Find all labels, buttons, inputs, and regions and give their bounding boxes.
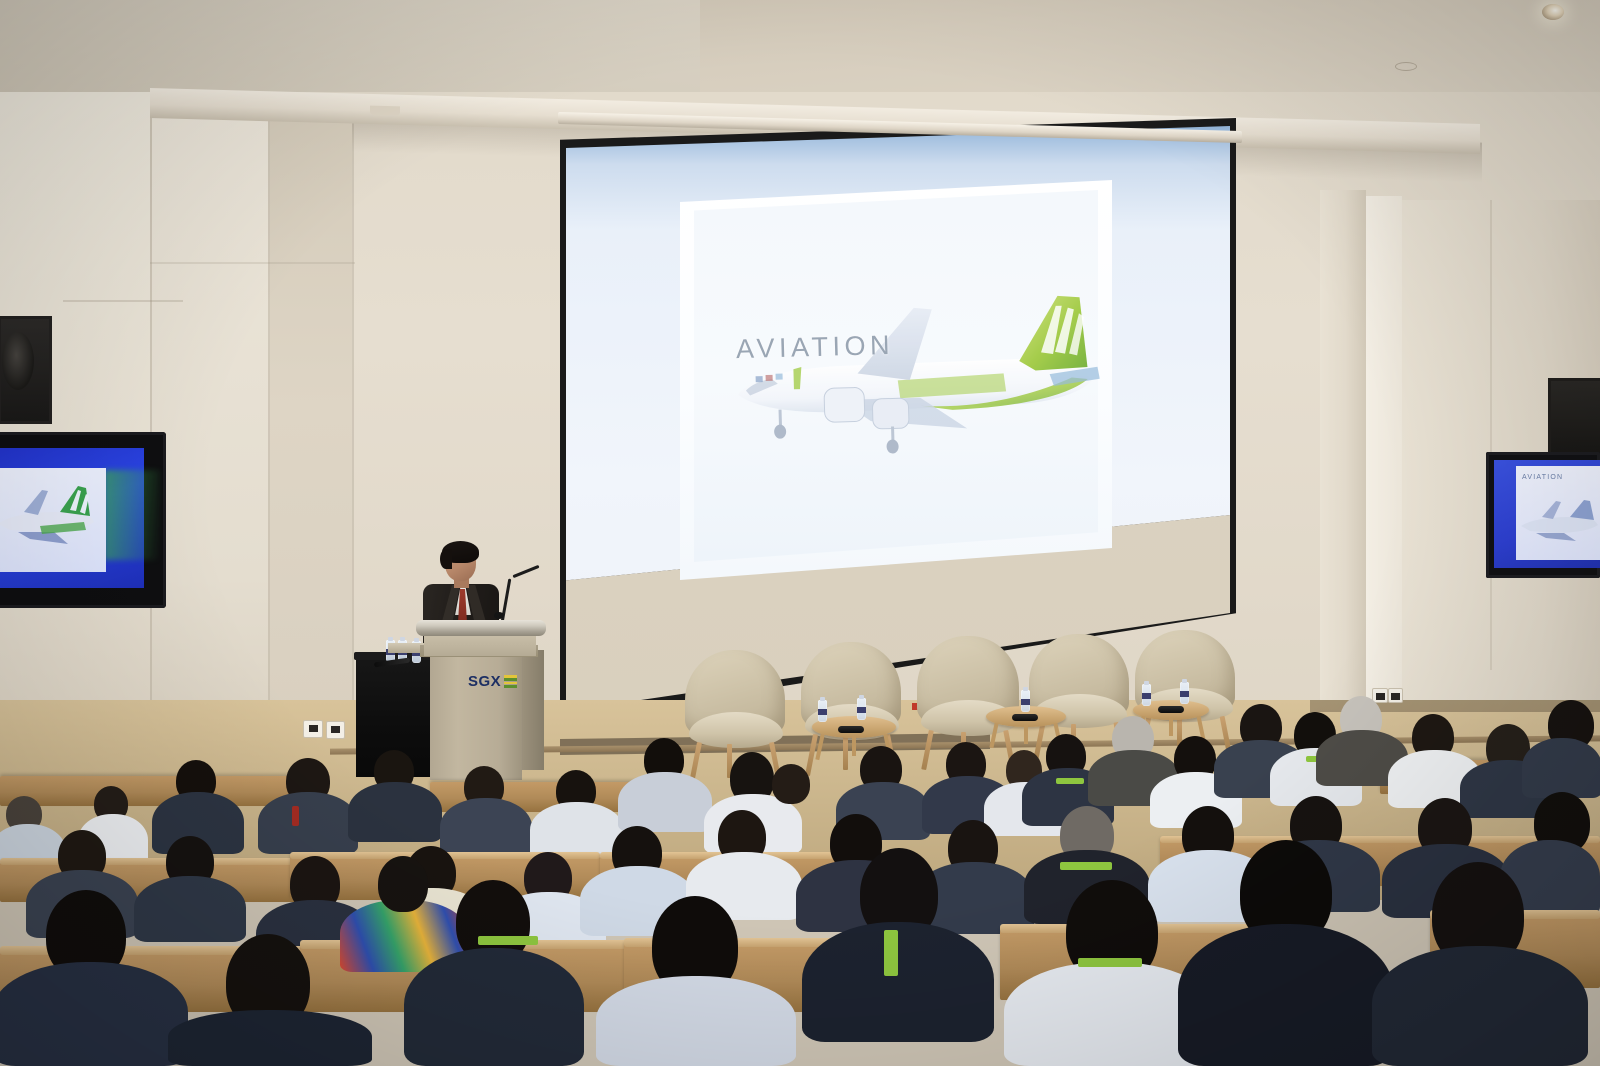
- water-bottle[interactable]: [1021, 690, 1030, 712]
- audience-member: [440, 798, 532, 858]
- wall-column-face-a: [1320, 190, 1366, 720]
- audience-member: [404, 948, 584, 1066]
- water-bottle[interactable]: [857, 698, 866, 720]
- wall-seam: [268, 92, 270, 782]
- water-bottle[interactable]: [1142, 684, 1151, 706]
- wall-seam: [1490, 200, 1492, 670]
- ceiling-fixture-ring-icon: [1395, 62, 1417, 71]
- handheld-microphone[interactable]: [838, 726, 864, 733]
- soffit-bracket: [370, 106, 400, 116]
- wall-seam: [150, 262, 355, 264]
- left-monitor-aircraft-icon: [0, 482, 98, 554]
- left-monitor-tail-glow: [104, 470, 160, 560]
- wall-column-face-b: [1366, 196, 1402, 720]
- lanyard: [884, 930, 898, 976]
- lanyard: [478, 936, 538, 945]
- aircraft-illustration: [717, 289, 1102, 490]
- podium-side: [522, 650, 544, 770]
- panel-chair[interactable]: [681, 650, 791, 775]
- sgx-logo-text: SGX: [468, 673, 501, 690]
- wall-recess: [270, 104, 352, 780]
- wall-seam: [352, 104, 354, 780]
- audience-member: [134, 876, 246, 942]
- audience-member: [618, 772, 712, 832]
- audience-member: [1372, 946, 1588, 1066]
- sgx-logo-mark-icon: [504, 675, 517, 688]
- wall-seam: [63, 300, 183, 302]
- lanyard: [292, 806, 299, 826]
- audience-member: [258, 792, 358, 854]
- speaker-cone-icon: [2, 332, 34, 390]
- audience-member: [596, 976, 796, 1066]
- wall-panel-left-b: [152, 98, 268, 782]
- wall-socket[interactable]: [303, 720, 323, 738]
- audience-member: [348, 782, 442, 842]
- lanyard: [1060, 862, 1112, 870]
- audience-member: [168, 1010, 372, 1066]
- audience-member: [772, 764, 810, 804]
- seat-bench[interactable]: [0, 776, 300, 806]
- slide-title: AVIATION: [736, 330, 895, 365]
- audience-member: [378, 856, 428, 912]
- right-monitor-slide-title: AVIATION: [1522, 474, 1563, 481]
- auditorium-scene: AVIATION AVIATION: [0, 0, 1600, 1066]
- speaker-hair: [440, 549, 452, 569]
- water-bottle[interactable]: [1180, 682, 1189, 704]
- handheld-microphone[interactable]: [1012, 714, 1038, 721]
- right-monitor-aircraft-icon: [1518, 496, 1600, 548]
- wall-socket[interactable]: [1388, 688, 1403, 703]
- sgx-logo: SGX: [468, 673, 526, 691]
- audience-member: [1522, 738, 1600, 798]
- lanyard: [1078, 958, 1142, 967]
- wall-socket[interactable]: [326, 721, 345, 739]
- water-bottle[interactable]: [818, 700, 827, 722]
- podium-microphone-head: [494, 612, 504, 619]
- lanyard: [1056, 778, 1084, 784]
- handheld-microphone[interactable]: [1158, 706, 1184, 713]
- recessed-spotlight-icon: [1542, 4, 1564, 20]
- podium-top-rail: [416, 620, 546, 636]
- audience-member: [0, 962, 188, 1066]
- audience-member: [1178, 924, 1394, 1066]
- audience-member: [802, 922, 994, 1042]
